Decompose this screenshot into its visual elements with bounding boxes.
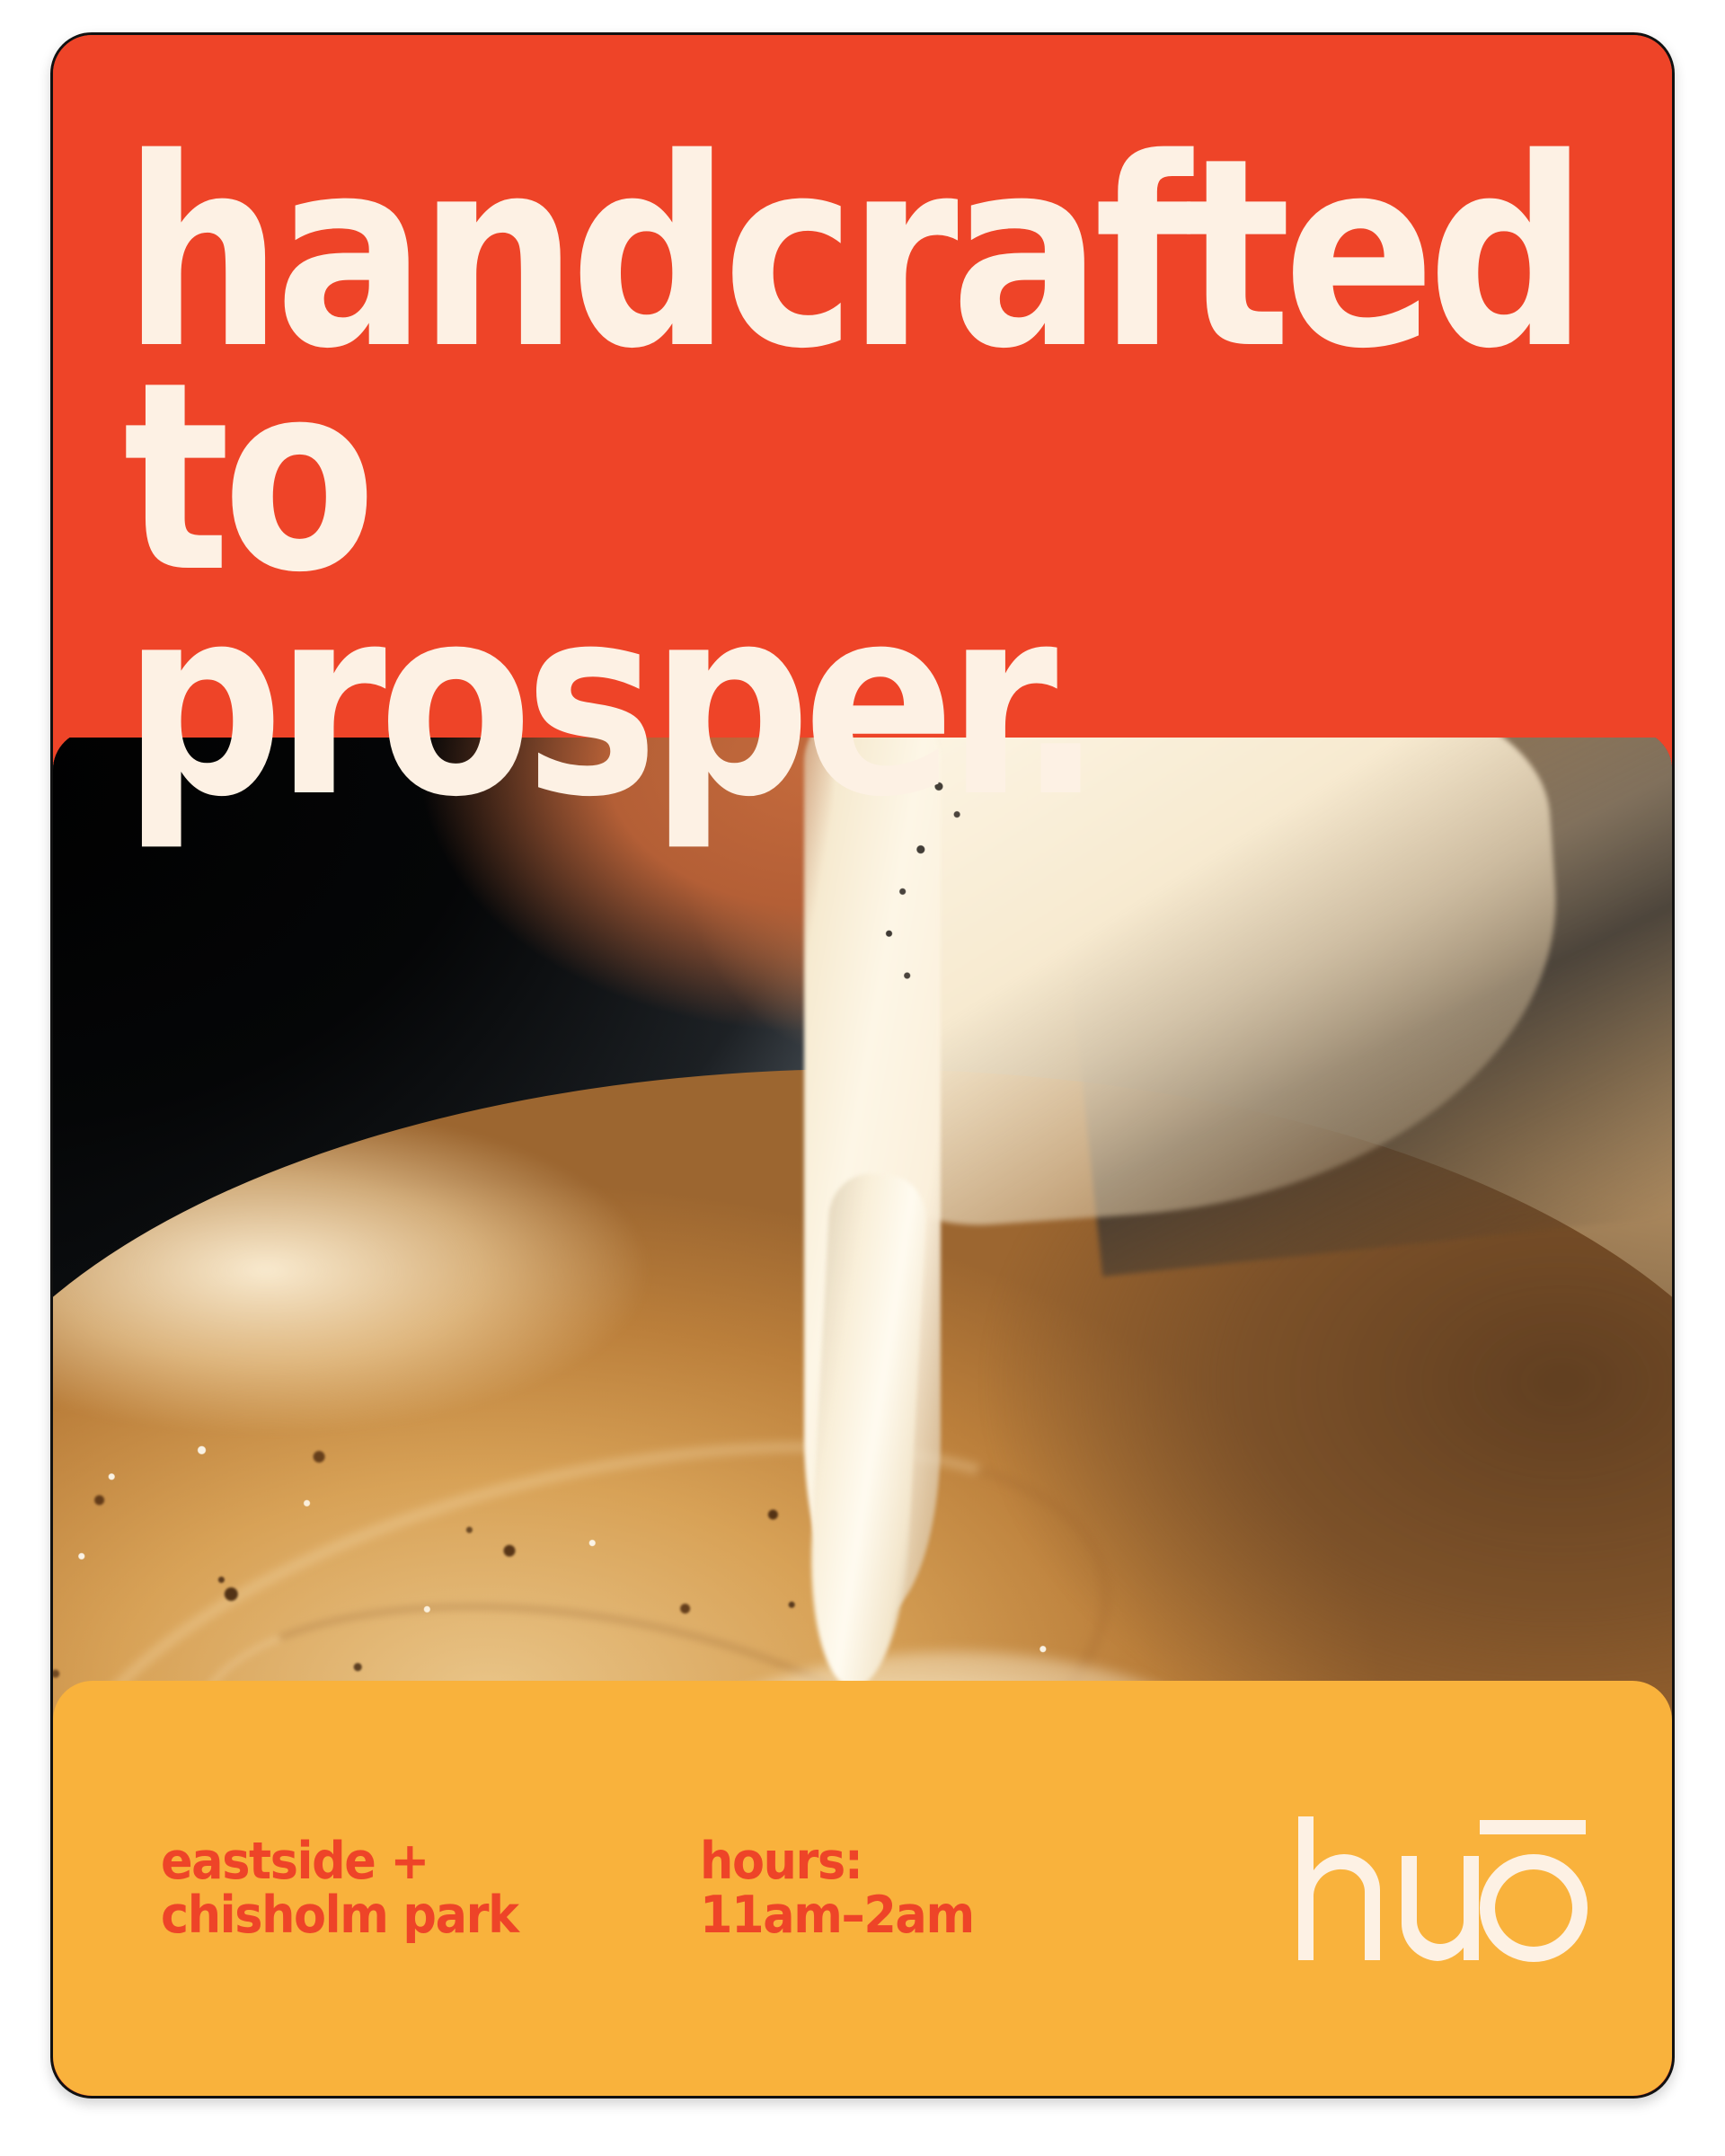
- page-title: handcrafted to prosper.: [123, 143, 1390, 815]
- hua-logo: [1293, 1813, 1589, 1964]
- location-text: eastside + chisholm park: [161, 1834, 657, 1943]
- hours-text: hours: 11am–2am: [700, 1834, 1163, 1943]
- headline-band: handcrafted to prosper.: [53, 35, 1672, 738]
- footer-content: eastside + chisholm park hours: 11am–2am: [53, 1813, 1672, 1964]
- hua-logo-mark: [1293, 1813, 1589, 1964]
- poster-card: handcrafted to prosper. eastside + chish…: [50, 32, 1675, 2099]
- footer-bar: eastside + chisholm park hours: 11am–2am: [53, 1681, 1672, 2096]
